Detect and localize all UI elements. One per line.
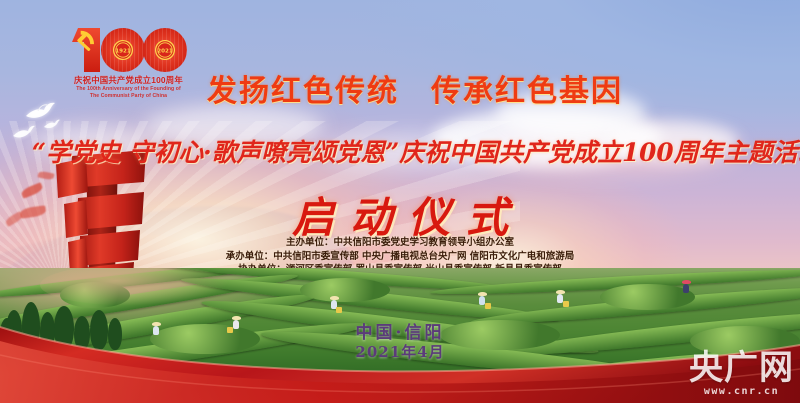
page-headline: 发扬红色传统 传承红色基因 <box>205 66 625 110</box>
organizer-line: 承办单位：中共信阳市委宣传部 中央广播电视总台央广网 信阳市文化广电和旅游局 <box>0 250 800 264</box>
picker-body <box>683 284 689 293</box>
emblem-year-left: 1921 <box>115 49 131 55</box>
cnr-watermark: 央广网 www.cnr.cn <box>689 351 794 397</box>
dove-icon <box>43 118 61 130</box>
emblem-year-right: 2021 <box>157 49 173 55</box>
event-date: 2021年4月 <box>0 341 800 362</box>
emblem-graphic: 1921 2021 <box>66 22 191 78</box>
cpc-100th-anniversary-emblem: 1921 2021 庆祝中国共产党成立100周年 The 100th Anniv… <box>66 22 191 108</box>
emblem-english-line2: The Communist Party of China <box>66 93 191 100</box>
event-location: 中国·信阳 <box>0 318 800 343</box>
watermark-url: www.cnr.cn <box>689 386 794 397</box>
emblem-english-caption: The 100th Anniversary of the Founding of… <box>66 86 191 100</box>
event-subtitle: “学党史 守初心·歌声嘹亮颂党恩”庆祝中国共产党成立100周年主题活动 <box>32 133 775 169</box>
emblem-chinese-caption: 庆祝中国共产党成立100周年 <box>66 74 191 86</box>
emblem-english-line1: The 100th Anniversary of the Founding of <box>66 86 191 93</box>
poster-canvas: 1921 2021 庆祝中国共产党成立100周年 The 100th Anniv… <box>0 0 800 403</box>
watermark-name: 央广网 <box>689 351 794 385</box>
organizer-line: 主办单位：中共信阳市委党史学习教育领导小组办公室 <box>0 236 800 250</box>
